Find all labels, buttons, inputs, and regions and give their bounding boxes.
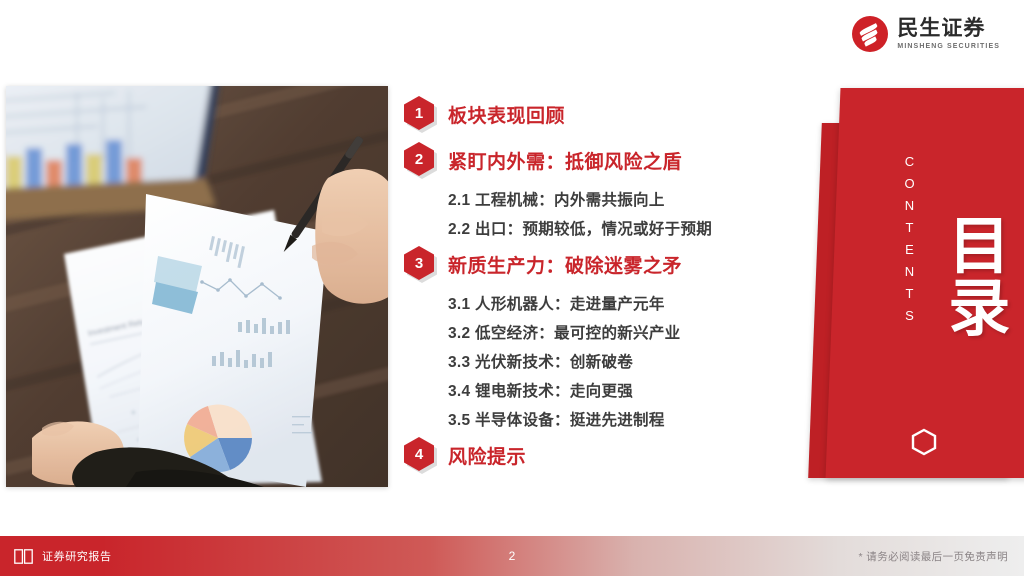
brand-logo: 民生证券 MINSHENG SECURITIES xyxy=(852,16,1000,52)
toc-subitem-2-1[interactable]: 2.1 工程机械：内外需共振向上 xyxy=(404,184,804,213)
hexagon-number-badge-2: 2 xyxy=(404,142,436,178)
slide-root: 民生证券 MINSHENG SECURITIES xyxy=(0,0,1024,576)
section-label-3: 新质生产力：破除迷雾之矛 xyxy=(448,251,682,278)
subitem-label-3-5: 3.5 半导体设备：挺进先进制程 xyxy=(448,408,665,430)
contents-panel: CONTENTS 目录 xyxy=(815,88,1024,488)
toc-section-2[interactable]: 2 紧盯内外需：抵御风险之盾 xyxy=(404,142,804,178)
toc-subitem-3-2[interactable]: 3.2 低空经济：最可控的新兴产业 xyxy=(404,317,804,346)
hexagon-number-badge-1: 1 xyxy=(404,96,436,132)
subitem-label-3-2: 3.2 低空经济：最可控的新兴产业 xyxy=(448,321,680,343)
table-of-contents: 1 板块表现回顾 2 紧盯内外需：抵御风险之盾 2.1 工程机械：内外需共振向上… xyxy=(404,96,804,473)
contents-title-cn: 目录 xyxy=(941,213,1004,337)
toc-subitem-3-4[interactable]: 3.4 锂电新技术：走向更强 xyxy=(404,375,804,404)
toc-subitem-3-3[interactable]: 3.3 光伏新技术：创新破卷 xyxy=(404,346,804,375)
photo-illustration: Investment Return xyxy=(6,86,388,487)
brand-name-en: MINSHENG SECURITIES xyxy=(897,43,1000,50)
toc-subitem-3-5[interactable]: 3.5 半导体设备：挺进先进制程 xyxy=(404,404,804,433)
footer-bar: 证券研究报告 2 * 请务必阅读最后一页免责声明 xyxy=(0,536,1024,576)
toc-section-1[interactable]: 1 板块表现回顾 xyxy=(404,96,804,132)
subitem-label-3-1: 3.1 人形机器人：走进量产元年 xyxy=(448,292,665,314)
section-label-4: 风险提示 xyxy=(448,442,526,469)
subitem-label-3-4: 3.4 锂电新技术：走向更强 xyxy=(448,379,633,401)
section-label-2: 紧盯内外需：抵御风险之盾 xyxy=(448,147,682,174)
section-label-1: 板块表现回顾 xyxy=(448,101,565,128)
subitem-label-2-1: 2.1 工程机械：内外需共振向上 xyxy=(448,188,665,210)
hexagon-number-badge-4: 4 xyxy=(404,437,436,473)
toc-section-3[interactable]: 3 新质生产力：破除迷雾之矛 xyxy=(404,246,804,282)
brand-text: 民生证券 MINSHENG SECURITIES xyxy=(897,18,1000,50)
subitem-label-3-3: 3.3 光伏新技术：创新破卷 xyxy=(448,350,633,372)
subitem-label-2-2: 2.2 出口：预期较低，情况或好于预期 xyxy=(448,217,712,239)
footer-disclaimer: * 请务必阅读最后一页免责声明 xyxy=(858,549,1008,564)
toc-subitem-2-2[interactable]: 2.2 出口：预期较低，情况或好于预期 xyxy=(404,213,804,242)
toc-section-4[interactable]: 4 风险提示 xyxy=(404,437,804,473)
hexagon-outline-icon xyxy=(911,428,937,456)
brand-name-cn: 民生证券 xyxy=(897,18,1000,39)
toc-subitem-3-1[interactable]: 3.1 人形机器人：走进量产元年 xyxy=(404,288,804,317)
hexagon-number-badge-3: 3 xyxy=(404,246,436,282)
cover-photo: Investment Return xyxy=(6,86,388,487)
contents-vertical-label: CONTENTS xyxy=(903,154,916,330)
panel-content: CONTENTS 目录 xyxy=(833,88,1024,478)
minsheng-circle-logo-icon xyxy=(852,16,888,52)
